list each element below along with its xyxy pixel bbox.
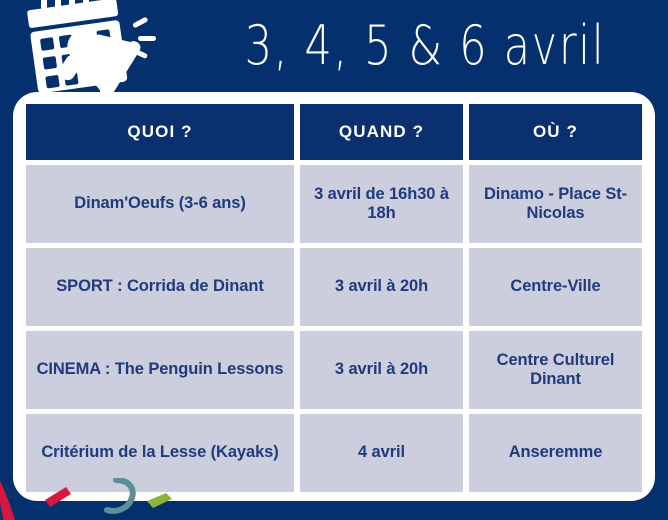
cell-where: Centre-Ville [469, 248, 642, 326]
table-row: CINEMA : The Penguin Lessons 3 avril à 2… [26, 331, 642, 409]
column-header-quoi: QUOI ? [26, 104, 294, 160]
event-poster: 3, 4, 5 & 6 avril QUOI ? QUAND ? OÙ ? Di… [0, 0, 668, 520]
cell-what: CINEMA : The Penguin Lessons [26, 331, 294, 409]
cell-when: 3 avril à 20h [300, 248, 463, 326]
cell-what: Critérium de la Lesse (Kayaks) [26, 414, 294, 492]
cell-when: 3 avril de 16h30 à 18h [300, 165, 463, 243]
cell-when: 3 avril à 20h [300, 331, 463, 409]
calendar-megaphone-icon [14, 0, 160, 96]
cell-where: Centre Culturel Dinant [469, 331, 642, 409]
column-header-ou: OÙ ? [469, 104, 642, 160]
table-row: Dinam'Oeufs (3-6 ans) 3 avril de 16h30 à… [26, 165, 642, 243]
schedule-table: QUOI ? QUAND ? OÙ ? Dinam'Oeufs (3-6 ans… [26, 104, 642, 491]
poster-title: 3, 4, 5 & 6 avril [245, 0, 605, 90]
table-row: SPORT : Corrida de Dinant 3 avril à 20h … [26, 248, 642, 326]
green-confetti-decoration [146, 492, 174, 510]
cell-where: Anseremme [469, 414, 642, 492]
table-header-row: QUOI ? QUAND ? OÙ ? [26, 104, 642, 160]
poster-header: 3, 4, 5 & 6 avril [0, 0, 668, 93]
red-streamer-decoration [0, 468, 30, 520]
cell-where: Dinamo - Place St-Nicolas [469, 165, 642, 243]
teal-streamer-decoration [100, 478, 142, 516]
cell-what: SPORT : Corrida de Dinant [26, 248, 294, 326]
red-confetti-decoration [42, 486, 74, 508]
schedule-card: QUOI ? QUAND ? OÙ ? Dinam'Oeufs (3-6 ans… [13, 92, 655, 501]
cell-when: 4 avril [300, 414, 463, 492]
cell-what: Dinam'Oeufs (3-6 ans) [26, 165, 294, 243]
column-header-quand: QUAND ? [300, 104, 463, 160]
